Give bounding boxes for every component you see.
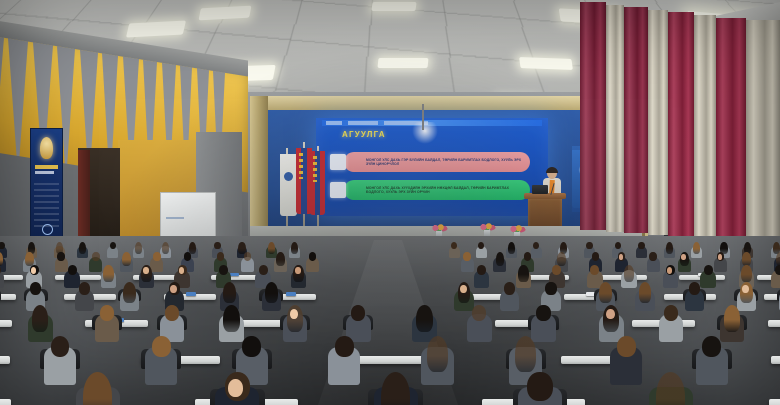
audience-head xyxy=(639,282,652,303)
audience-head xyxy=(508,242,515,254)
audience-head xyxy=(775,265,780,275)
audience-face xyxy=(228,379,243,398)
audience-head xyxy=(724,305,740,332)
audience-head xyxy=(214,242,220,249)
audience-head xyxy=(135,242,142,254)
projector-mount xyxy=(422,104,424,130)
audience-head xyxy=(184,252,192,261)
audience-head xyxy=(463,252,471,261)
audience-face xyxy=(170,285,177,293)
audience-head xyxy=(416,305,432,332)
ceiling-light xyxy=(371,2,416,11)
audience-head xyxy=(51,336,70,357)
audience-head xyxy=(57,252,65,261)
desk xyxy=(769,399,780,405)
flag-emblem xyxy=(284,172,293,181)
audience-head xyxy=(351,305,365,321)
audience-head xyxy=(162,242,169,254)
flag-cloth xyxy=(280,154,297,216)
audience-head xyxy=(592,252,600,261)
audience-head xyxy=(599,282,612,303)
curtain-panel-red xyxy=(580,2,606,230)
audience-head xyxy=(276,252,285,266)
audience-head xyxy=(518,265,528,282)
audience-head xyxy=(638,242,644,249)
soyombo-symbol xyxy=(313,156,317,182)
slide-bullet-green: МОНГОЛ УЛС ДАХЬ ХҮҮХДИЙН ЭРХИЙН НӨХЦӨЛ Б… xyxy=(344,180,530,200)
audience-head xyxy=(504,282,515,295)
slide-heading: АГУУЛГА xyxy=(342,130,386,139)
ceiling-light xyxy=(519,57,573,70)
curtain-panel-cream xyxy=(694,15,716,238)
roll-up-banner xyxy=(30,128,63,240)
audience-head xyxy=(291,242,298,254)
audience-head xyxy=(0,242,5,249)
audience-head xyxy=(524,252,532,261)
flower-arrangement xyxy=(478,223,496,235)
curtain-panel-red xyxy=(716,18,746,240)
audience-head xyxy=(79,282,90,295)
audience-head xyxy=(624,265,634,282)
audience-head xyxy=(223,305,239,332)
audience-head xyxy=(615,242,621,249)
audience-head xyxy=(741,265,751,282)
desk xyxy=(0,356,10,364)
curtain-panel-cream xyxy=(606,5,624,232)
desk xyxy=(771,356,780,364)
audience-head xyxy=(527,372,553,401)
right-wall xyxy=(580,0,780,260)
audience-head xyxy=(427,336,449,372)
laptop xyxy=(532,185,548,194)
banner-body-text xyxy=(34,183,59,227)
projection-screen: АГУУЛГА МОНГОЛ УЛС ДАХЬ ГЭР БҮЛИЙН БАЙДА… xyxy=(316,118,548,216)
audience-face xyxy=(742,285,749,293)
audience-head xyxy=(219,265,228,275)
banner-headline xyxy=(35,165,58,169)
audience-head xyxy=(586,242,592,249)
audience-face xyxy=(718,254,723,260)
curtain-panel-red xyxy=(624,7,648,233)
audience-head xyxy=(335,336,354,357)
desk xyxy=(351,356,430,364)
bullet-marker xyxy=(330,182,346,198)
slide-bullet-text: МОНГОЛ УЛС ДАХЬ ГЭР БҮЛИЙН БАЙДАЛ, ТӨРИЙ… xyxy=(366,158,524,167)
desk xyxy=(0,399,11,405)
audience-head xyxy=(536,305,550,321)
flipchart-easel xyxy=(160,192,216,242)
audience-head xyxy=(244,252,252,261)
audience-head xyxy=(123,282,136,303)
curtain-panel-red xyxy=(668,12,694,236)
audience-head xyxy=(472,305,486,321)
audience-head xyxy=(165,305,179,321)
audience-head xyxy=(702,336,721,357)
curtain-panel-cream xyxy=(746,20,780,241)
notebook xyxy=(230,273,238,276)
bullet-marker xyxy=(330,154,346,170)
audience-head xyxy=(110,242,116,249)
audience-head xyxy=(617,336,636,357)
flag-cloth xyxy=(310,151,325,215)
audience-head xyxy=(265,282,278,303)
audience-head xyxy=(217,252,225,261)
audience-head xyxy=(496,252,505,266)
audience-head xyxy=(122,252,131,266)
slide-bullet-red: МОНГОЛ УЛС ДАХЬ ГЭР БҮЛИЙН БАЙДАЛ, ТӨРИЙ… xyxy=(344,152,530,172)
audience-head xyxy=(223,282,236,303)
audience-face xyxy=(460,285,467,293)
desk xyxy=(0,320,12,327)
soyombo-symbol xyxy=(299,153,303,179)
conference-hall-photo: АГУУЛГА МОНГОЛ УЛС ДАХЬ ГЭР БҮЛИЙН БАЙДА… xyxy=(0,0,780,405)
audience-face xyxy=(295,267,300,274)
banner-figure xyxy=(40,137,53,159)
speaker-hair xyxy=(546,167,558,173)
audience-head xyxy=(79,242,86,254)
audience-head xyxy=(477,265,486,275)
audience-head xyxy=(100,305,114,321)
audience-head xyxy=(309,252,317,261)
audience-head xyxy=(693,242,700,254)
audience-face xyxy=(143,267,148,274)
audience-head xyxy=(664,305,678,321)
flower-arrangement xyxy=(430,224,448,236)
audience-head xyxy=(153,252,161,261)
audience-head xyxy=(557,252,566,266)
audience-head xyxy=(268,242,275,254)
stage-pilaster-left xyxy=(250,96,268,246)
audience-head xyxy=(32,305,48,332)
audience-head xyxy=(68,265,77,275)
audience-head xyxy=(103,265,113,282)
audience-head xyxy=(704,265,713,275)
audience-head xyxy=(242,336,261,357)
audience-face xyxy=(619,254,624,260)
slide-bullet-text: МОНГОЛ УЛС ДАХЬ ХҮҮХДИЙН ЭРХИЙН НӨХЦӨЛ Б… xyxy=(366,186,524,195)
ceiling-light xyxy=(377,58,428,68)
audience-face xyxy=(606,309,615,319)
audience-head xyxy=(515,336,537,372)
audience-head xyxy=(152,336,171,357)
door-leaf xyxy=(78,150,90,238)
audience-head xyxy=(649,252,657,261)
notebook xyxy=(186,292,196,295)
audience-head xyxy=(689,282,700,295)
audience-head xyxy=(92,252,100,261)
desk xyxy=(768,320,780,327)
notebook xyxy=(286,292,296,295)
banner-subline xyxy=(35,171,54,174)
curtain-panel-cream xyxy=(648,10,668,235)
projector-hotspot xyxy=(412,122,438,144)
audience-head xyxy=(666,242,673,254)
banner-logo xyxy=(42,224,53,235)
desk xyxy=(0,294,16,300)
audience-head xyxy=(259,265,268,275)
audience-face xyxy=(681,254,686,260)
audience-head xyxy=(545,282,556,295)
flipchart-writing xyxy=(166,217,184,219)
audience-head xyxy=(30,282,41,295)
audience-face xyxy=(290,309,299,319)
